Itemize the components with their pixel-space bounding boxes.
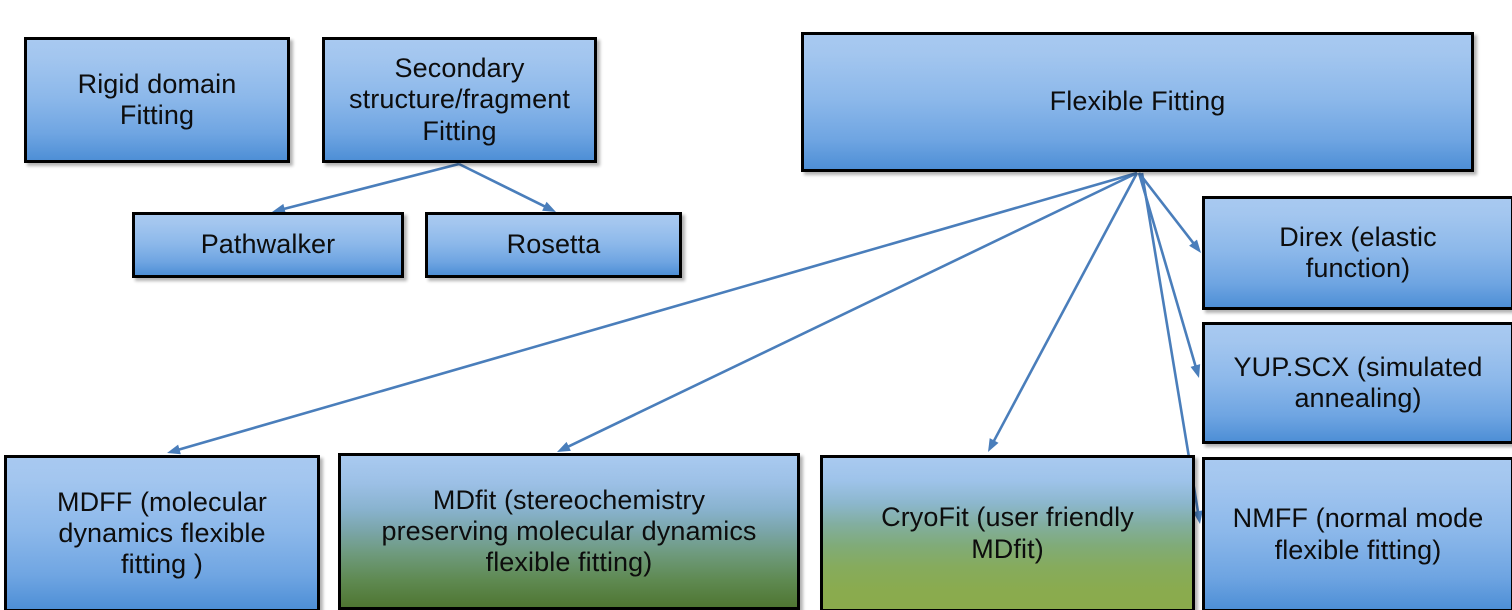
arrow-flexible-to-yupscx xyxy=(1139,173,1200,378)
node-label-rigid-domain-fitting: Rigid domainFitting xyxy=(33,69,281,132)
node-rosetta[interactable]: Rosetta xyxy=(425,212,682,278)
node-label-rosetta: Rosetta xyxy=(434,229,673,260)
node-label-direx: Direx (elasticfunction) xyxy=(1211,222,1505,285)
arrow-flexible-to-cryofit xyxy=(988,173,1137,452)
node-label-mdfit: MDfit (stereochemistrypreserving molecul… xyxy=(347,485,791,579)
node-secondary-structure-fragment-fitting[interactable]: Secondarystructure/fragmentFitting xyxy=(322,37,597,163)
node-pathwalker[interactable]: Pathwalker xyxy=(132,212,404,278)
node-nmff[interactable]: NMFF (normal modeflexible fitting) xyxy=(1202,457,1512,610)
arrow-secondary-to-rosetta xyxy=(459,164,556,212)
arrow-secondary-to-pathwalker xyxy=(272,164,459,214)
node-flexible-fitting[interactable]: Flexible Fitting xyxy=(801,32,1474,172)
node-mdfit[interactable]: MDfit (stereochemistrypreserving molecul… xyxy=(338,453,800,610)
node-label-nmff: NMFF (normal modeflexible fitting) xyxy=(1211,503,1505,566)
node-cryofit[interactable]: CryoFit (user friendlyMDfit) xyxy=(820,455,1195,610)
node-direx[interactable]: Direx (elasticfunction) xyxy=(1202,196,1512,310)
node-label-flexible-fitting: Flexible Fitting xyxy=(810,86,1465,117)
node-rigid-domain-fitting[interactable]: Rigid domainFitting xyxy=(24,37,290,163)
diagram-canvas: Rigid domainFittingSecondarystructure/fr… xyxy=(0,0,1512,610)
node-label-secondary-structure-fragment-fitting: Secondarystructure/fragmentFitting xyxy=(331,53,588,147)
node-label-yup-scx: YUP.SCX (simulatedannealing) xyxy=(1211,352,1505,415)
node-mdff[interactable]: MDFF (moleculardynamics flexiblefitting … xyxy=(4,455,320,610)
arrow-flexible-to-direx xyxy=(1139,173,1201,253)
node-label-mdff: MDFF (moleculardynamics flexiblefitting … xyxy=(13,487,311,581)
node-label-cryofit: CryoFit (user friendlyMDfit) xyxy=(829,502,1186,565)
node-label-pathwalker: Pathwalker xyxy=(141,229,395,260)
node-yup-scx[interactable]: YUP.SCX (simulatedannealing) xyxy=(1202,322,1512,444)
